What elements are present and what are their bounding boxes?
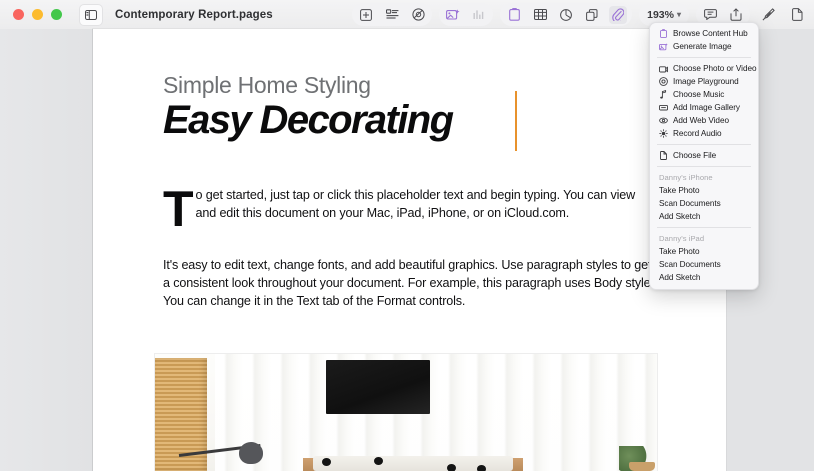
menu-separator	[657, 57, 751, 58]
record-audio-icon	[658, 129, 669, 138]
insert-page-button[interactable]	[357, 6, 375, 24]
photo-curtains	[215, 354, 657, 471]
toolbar-group-view	[352, 3, 432, 26]
document-paragraph-2[interactable]: It's easy to edit text, change fonts, an…	[163, 257, 655, 310]
paragraph-1-text: o get started, just tap or click this pl…	[196, 188, 636, 220]
document-title: Contemporary Report.pages	[115, 9, 273, 21]
chart-pie-button[interactable]	[557, 6, 575, 24]
sidebar-icon	[85, 10, 97, 20]
chart-bars-button[interactable]	[470, 6, 488, 24]
menu-item-label: Choose Music	[673, 90, 724, 99]
menu-header-ipad: Danny's iPad	[650, 232, 758, 245]
pages-app-window: Contemporary Report.pages	[0, 0, 814, 471]
photo-pillow-dot	[477, 465, 486, 471]
menu-item-ipad-add-sketch[interactable]: Add Sketch	[650, 271, 758, 284]
menu-item-label: Add Image Gallery	[673, 103, 740, 112]
canvas-left-margin	[0, 29, 93, 471]
menu-item-image-playground[interactable]: Image Playground	[650, 75, 758, 88]
traffic-lights	[13, 9, 62, 20]
menu-item-choose-file[interactable]: Choose File	[650, 149, 758, 162]
photo-pillow-dot	[322, 458, 331, 466]
image-gallery-icon	[658, 104, 669, 111]
zoom-level-control[interactable]: 193% ▾	[644, 9, 684, 21]
generate-image-icon	[658, 43, 669, 51]
menu-item-label: Add Web Video	[673, 116, 729, 125]
menu-item-iphone-take-photo[interactable]: Take Photo	[650, 184, 758, 197]
comment-button[interactable]	[701, 6, 719, 24]
document-photo[interactable]	[155, 354, 657, 471]
document-paragraph-1[interactable]: To get started, just tap or click this p…	[163, 187, 655, 243]
text-cursor	[515, 91, 517, 151]
menu-item-add-web-video[interactable]: Add Web Video	[650, 114, 758, 127]
toolbar-group-format	[757, 3, 808, 26]
menu-item-label: Image Playground	[673, 77, 739, 86]
menu-item-choose-photo-or-video[interactable]: Choose Photo or Video	[650, 62, 758, 75]
toolbar-group-media	[439, 3, 493, 26]
photo-lamp-head	[239, 442, 263, 464]
menu-header-iphone: Danny's iPhone	[650, 171, 758, 184]
menu-item-generate-image[interactable]: Generate Image	[650, 40, 758, 53]
zoom-level-value: 193%	[647, 9, 674, 21]
menu-item-record-audio[interactable]: Record Audio	[650, 127, 758, 140]
menu-separator	[657, 227, 751, 228]
menu-separator	[657, 144, 751, 145]
menu-item-label: Browse Content Hub	[673, 29, 748, 38]
media-button[interactable]	[609, 6, 627, 24]
menu-item-label: Choose Photo or Video	[673, 64, 756, 73]
document-outline-button[interactable]	[383, 6, 401, 24]
document-eyebrow[interactable]: Simple Home Styling	[163, 73, 655, 97]
share-button[interactable]	[727, 6, 745, 24]
headline-row: Easy Decorating	[163, 99, 655, 142]
photo-pillow-dot	[374, 457, 383, 465]
minimize-button[interactable]	[32, 9, 43, 20]
photo-basket	[629, 462, 655, 471]
menu-item-iphone-scan-documents[interactable]: Scan Documents	[650, 197, 758, 210]
document-content: Simple Home Styling Easy Decorating To g…	[163, 73, 655, 310]
photo-video-icon	[658, 65, 669, 73]
close-button[interactable]	[13, 9, 24, 20]
photo-black-artwork	[326, 360, 430, 414]
menu-item-browse-content-hub[interactable]: Browse Content Hub	[650, 27, 758, 40]
drop-cap: T	[163, 189, 193, 229]
table-button[interactable]	[531, 6, 549, 24]
content-hub-icon	[658, 29, 669, 38]
file-icon	[658, 151, 669, 160]
collaborate-button[interactable]	[409, 6, 427, 24]
menu-item-label: Choose File	[673, 151, 716, 160]
web-video-icon	[658, 117, 669, 124]
sidebar-toggle-button[interactable]	[79, 4, 103, 26]
text-box-button[interactable]	[505, 6, 523, 24]
menu-item-label: Generate Image	[673, 42, 731, 51]
insert-media-menu[interactable]: Browse Content Hub Generate Image	[649, 22, 759, 290]
document-button[interactable]	[788, 6, 806, 24]
document-headline[interactable]: Easy Decorating	[163, 99, 655, 142]
shape-button[interactable]	[583, 6, 601, 24]
format-button[interactable]	[759, 6, 777, 24]
toolbar-group-insert	[500, 3, 632, 26]
image-playground-icon	[658, 77, 669, 86]
menu-item-ipad-take-photo[interactable]: Take Photo	[650, 245, 758, 258]
chevron-down-icon: ▾	[677, 10, 681, 19]
photo-pillow-dot	[447, 464, 456, 471]
menu-item-iphone-add-sketch[interactable]: Add Sketch	[650, 210, 758, 223]
music-note-icon	[658, 90, 669, 99]
document-page[interactable]: Simple Home Styling Easy Decorating To g…	[93, 29, 726, 471]
menu-item-choose-music[interactable]: Choose Music	[650, 88, 758, 101]
menu-item-ipad-scan-documents[interactable]: Scan Documents	[650, 258, 758, 271]
zoom-button[interactable]	[51, 9, 62, 20]
menu-item-add-image-gallery[interactable]: Add Image Gallery	[650, 101, 758, 114]
menu-separator	[657, 166, 751, 167]
image-sparkle-button[interactable]	[444, 6, 462, 24]
menu-item-label: Record Audio	[673, 129, 722, 138]
